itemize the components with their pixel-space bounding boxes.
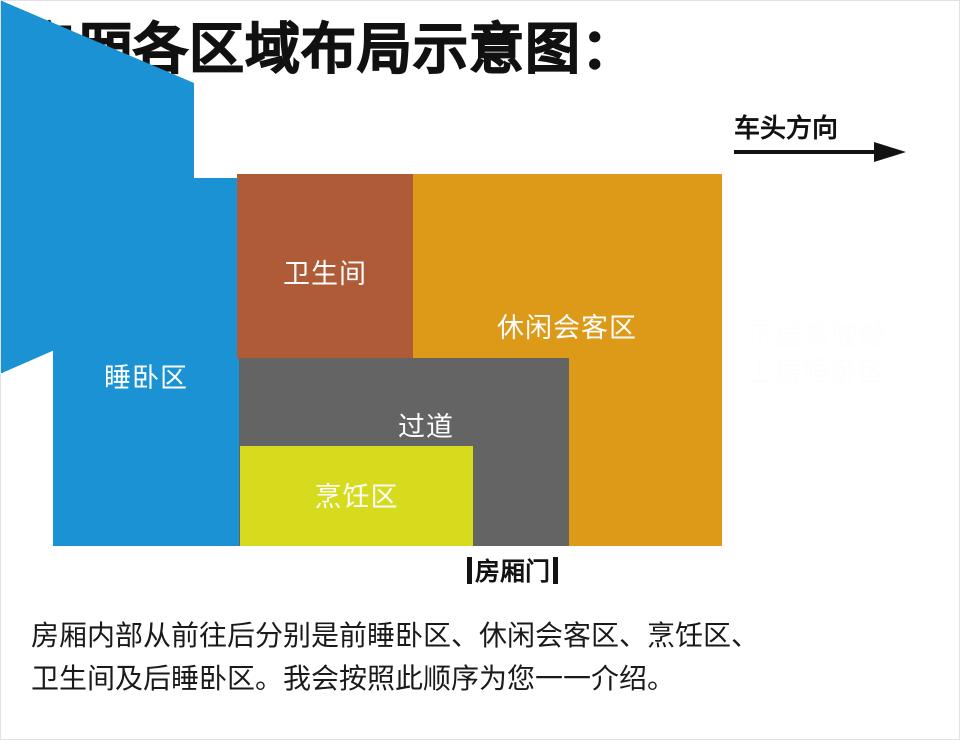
caption-block: 房厢内部从前往后分别是前睡卧区、休闲会客区、烹饪区、 卫生间及后睡卧区。我会按照… [31, 615, 931, 700]
zone-corridor-label: 过道 [398, 410, 454, 445]
zone-kitchen-label: 烹饪区 [315, 480, 399, 515]
zone-kitchen[interactable]: 烹饪区 [240, 446, 473, 546]
cabin-door-label: 房厢门 [475, 552, 550, 588]
caption-line-2: 卫生间及后睡卧区。我会按照此顺序为您一一介绍。 [31, 658, 931, 701]
zone-bathroom[interactable]: 卫生间 [237, 174, 413, 359]
zone-bedroom[interactable]: 睡卧区 [53, 178, 239, 546]
door-bracket-icon-right [553, 557, 558, 584]
zone-cab-label: 下层驾驶舱 上层睡卧区 [724, 319, 910, 392]
zone-lounge-label: 休闲会客区 [497, 311, 637, 346]
zone-bathroom-label: 卫生间 [283, 257, 367, 292]
slide-canvas: 房厢各区域布局示意图： 车头方向 睡卧区 休闲会客区 卫生间 过道 烹饪区 [0, 0, 960, 740]
caption-line-1: 房厢内部从前往后分别是前睡卧区、休闲会客区、烹饪区、 [31, 615, 931, 658]
door-bracket-icon-left [467, 557, 472, 584]
zone-bedroom-label: 睡卧区 [104, 361, 188, 396]
cabin-door-marker[interactable]: 房厢门 [467, 552, 558, 588]
